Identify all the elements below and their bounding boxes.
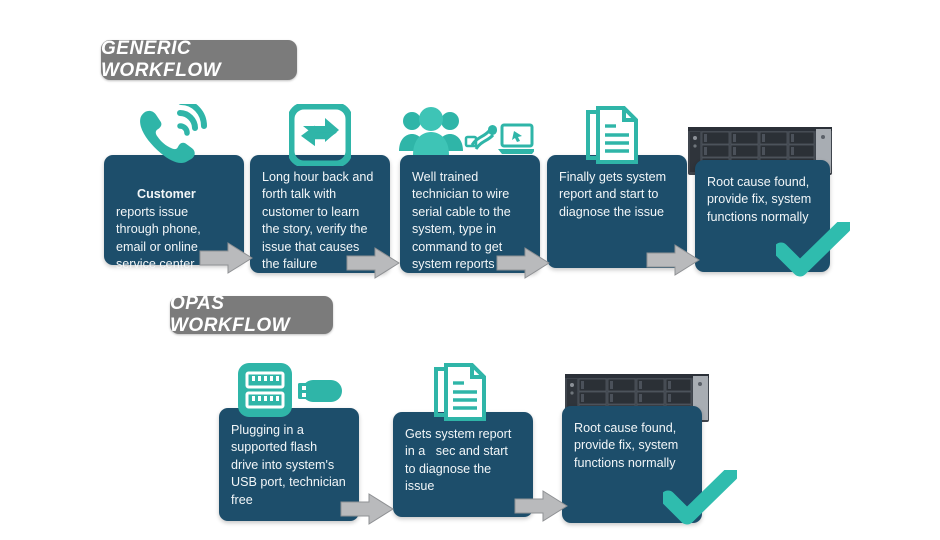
check-mark-opas <box>663 470 737 526</box>
step-text-opas-3: Root cause found, provide fix, system fu… <box>574 420 690 472</box>
exchange-arrows-icon <box>289 104 351 166</box>
step-box-opas-2: Gets system report in a sec and start to… <box>393 412 533 517</box>
step-text-generic-4: Finally gets system report and start to … <box>559 169 675 221</box>
section-badge-generic: GENERIC WORKFLOW <box>101 40 297 80</box>
step-text-opas-2: Gets system report in a sec and start to… <box>405 426 521 496</box>
section-badge-opas: OPAS WORKFLOW <box>170 296 333 334</box>
check-mark-generic <box>776 222 850 278</box>
arrow-generic-3-4 <box>495 246 551 280</box>
step-text-opas-1: Plugging in a supported flash drive into… <box>231 422 347 509</box>
step-box-opas-1: Plugging in a supported flash drive into… <box>219 408 359 521</box>
arrow-opas-1-2 <box>339 492 395 526</box>
workflow-diagram: GENERIC WORKFLOW Customer reports issue … <box>0 0 940 540</box>
arrow-generic-1-2 <box>198 241 254 275</box>
usb-ports-flash-drive-icon <box>236 361 346 421</box>
documents-report-icon <box>582 104 644 166</box>
arrow-generic-4-5 <box>645 243 701 277</box>
arrow-generic-2-3 <box>345 246 401 280</box>
phone-ringing-icon <box>133 104 211 166</box>
technicians-cable-laptop-icon <box>398 101 534 166</box>
step-text-generic-5: Root cause found, provide fix, system fu… <box>707 174 818 226</box>
arrow-opas-2-3 <box>513 489 569 523</box>
documents-report-icon <box>430 361 492 423</box>
step-text-lead: Customer <box>137 187 196 201</box>
